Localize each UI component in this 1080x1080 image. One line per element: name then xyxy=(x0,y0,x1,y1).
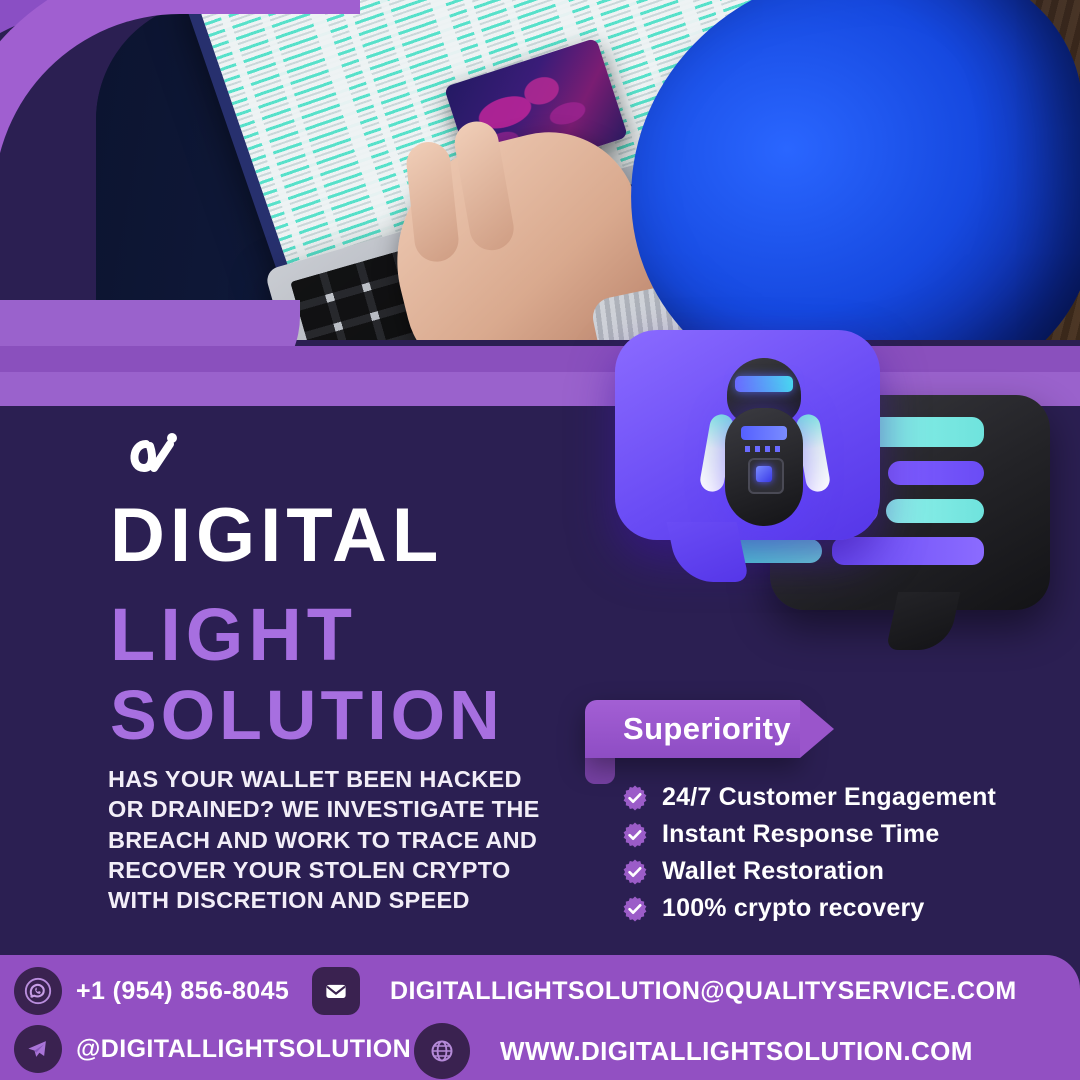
message-bar xyxy=(832,537,984,565)
title-line-3: SOLUTION xyxy=(110,682,504,749)
contact-telegram-value: @DIGITALLIGHTSOLUTION xyxy=(76,1035,411,1064)
list-item: 24/7 Customer Engagement xyxy=(622,783,1042,812)
bot-visor xyxy=(735,376,793,392)
chatbot-graphic xyxy=(585,325,1055,690)
title-line-1: DIGITAL xyxy=(110,500,504,573)
bot-screen xyxy=(741,426,787,440)
body-copy: HAS YOUR WALLET BEEN HACKED OR DRAINED? … xyxy=(108,764,568,916)
contact-email-value: DIGITALLIGHTSOLUTION@QUALITYSERVICE.COM xyxy=(390,977,1017,1006)
3d-chatbot-speech-bubble-icon xyxy=(615,330,880,540)
title-line-2: LIGHT xyxy=(110,599,504,670)
list-item: 100% crypto recovery xyxy=(622,894,1042,923)
envelope-icon xyxy=(312,967,360,1015)
whatsapp-icon xyxy=(14,967,62,1015)
contact-telegram[interactable]: @DIGITALLIGHTSOLUTION xyxy=(14,1025,411,1073)
contact-phone-value: +1 (954) 856-8045 xyxy=(76,977,289,1006)
body-line-4: RECOVER YOUR STOLEN CRYPTO xyxy=(108,855,568,885)
feature-label: Instant Response Time xyxy=(662,820,939,849)
page-title: DIGITAL LIGHT SOLUTION xyxy=(110,500,504,749)
list-item: Wallet Restoration xyxy=(622,857,1042,886)
check-badge-icon xyxy=(622,822,648,848)
message-bar xyxy=(886,499,984,523)
globe-icon xyxy=(414,1023,470,1079)
purple-swoosh-inner xyxy=(0,0,360,406)
bot-chip-icon xyxy=(748,458,784,494)
superiority-banner-label: Superiority xyxy=(623,711,791,747)
body-line-2: OR DRAINED? WE INVESTIGATE THE xyxy=(108,794,568,824)
body-line-3: BREACH AND WORK TO TRACE AND xyxy=(108,825,568,855)
body-line-1: HAS YOUR WALLET BEEN HACKED xyxy=(108,764,568,794)
contact-website-value: WWW.DIGITALLIGHTSOLUTION.COM xyxy=(500,1036,973,1067)
check-badge-icon xyxy=(622,785,648,811)
contact-email[interactable]: DIGITALLIGHTSOLUTION@QUALITYSERVICE.COM xyxy=(312,967,1017,1015)
bot-body xyxy=(725,408,803,526)
feature-label: 100% crypto recovery xyxy=(662,894,924,923)
ribbon-fold-tab xyxy=(585,758,615,784)
telegram-icon xyxy=(14,1025,62,1073)
feature-list: 24/7 Customer Engagement Instant Respons… xyxy=(622,783,1042,931)
bot-indicator-lights xyxy=(745,446,783,452)
list-item: Instant Response Time xyxy=(622,820,1042,849)
feature-label: Wallet Restoration xyxy=(662,857,884,886)
contact-footer: +1 (954) 856-8045 DIGITALLIGHTSOLUTION@Q… xyxy=(0,955,1080,1080)
ai-monogram-logo-icon xyxy=(120,424,184,488)
check-badge-icon xyxy=(622,859,648,885)
poster-root: DIGITAL LIGHT SOLUTION HAS YOUR WALLET B… xyxy=(0,0,1080,1080)
contact-phone[interactable]: +1 (954) 856-8045 xyxy=(14,967,289,1015)
superiority-banner: Superiority xyxy=(585,700,800,758)
contact-website[interactable]: WWW.DIGITALLIGHTSOLUTION.COM xyxy=(414,1023,973,1079)
feature-label: 24/7 Customer Engagement xyxy=(662,783,996,812)
body-line-5: WITH DISCRETION AND SPEED xyxy=(108,885,568,915)
check-badge-icon xyxy=(622,896,648,922)
message-bar xyxy=(888,461,984,485)
